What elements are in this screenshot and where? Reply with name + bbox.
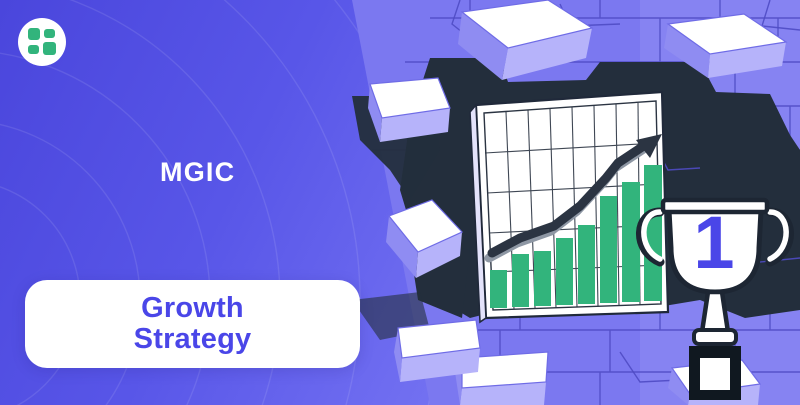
title-line-1: Growth: [141, 293, 244, 324]
title-card: Growth Strategy: [25, 280, 360, 368]
chart-bar: [512, 254, 529, 307]
flying-brick: [368, 78, 450, 142]
chart-bar: [556, 238, 573, 305]
chart-bar: [644, 165, 662, 301]
brand-name: MGIC: [160, 157, 235, 188]
trophy-rank-label: 1: [693, 201, 734, 284]
trophy-stem: [702, 292, 728, 332]
logo-tiles-icon: [28, 28, 56, 56]
growth-chart: [470, 92, 668, 322]
mgic-logo[interactable]: [18, 18, 66, 66]
flying-brick: [394, 320, 480, 382]
chart-bar: [490, 270, 507, 308]
trophy-plaque: [700, 358, 730, 390]
chart-bar: [600, 196, 617, 303]
trophy-collar: [694, 330, 736, 344]
promo-banner: 1 MGIC Growth Strategy: [0, 0, 800, 405]
title-line-2: Strategy: [134, 324, 252, 355]
chart-bar: [534, 251, 551, 306]
chart-bar: [578, 225, 595, 304]
